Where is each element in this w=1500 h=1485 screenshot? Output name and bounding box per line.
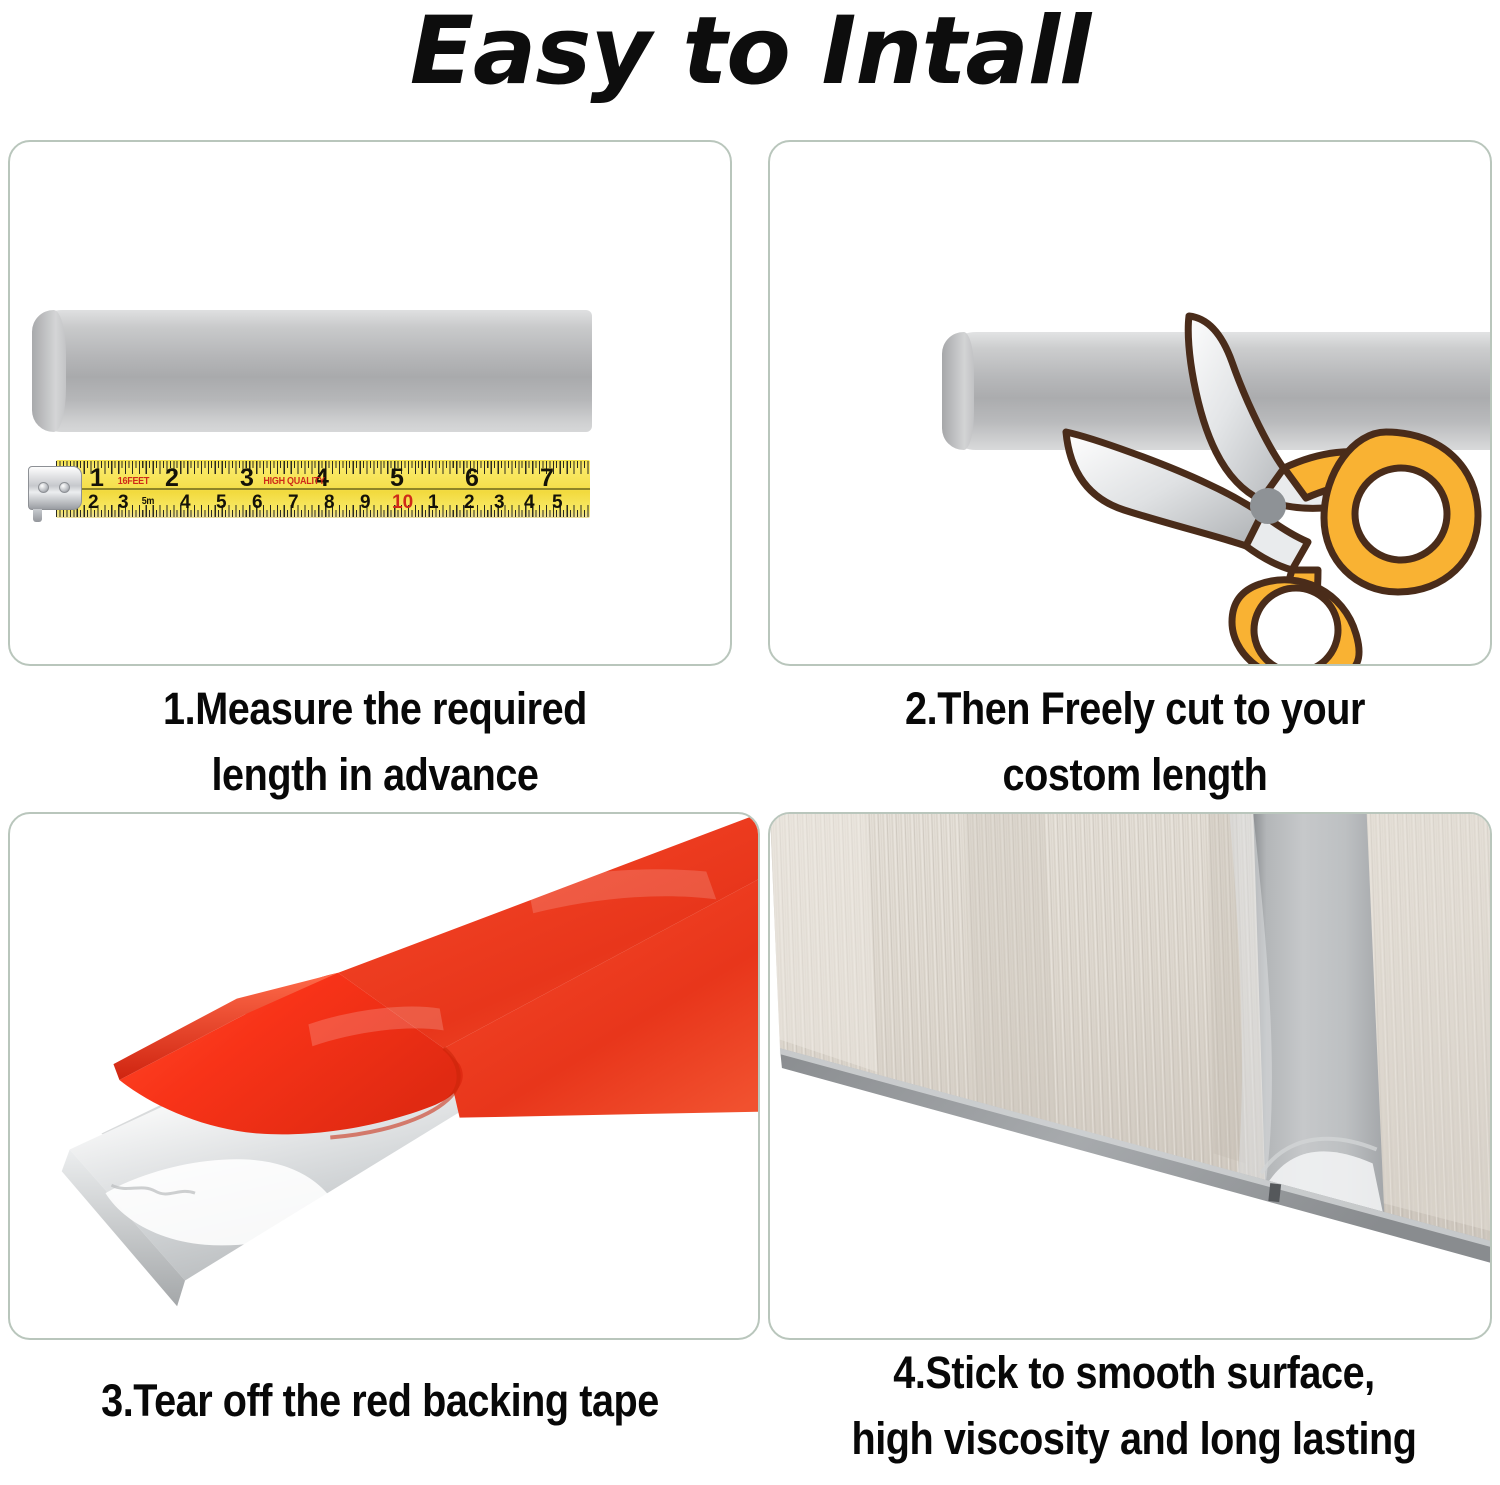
step-panel-peel: [8, 812, 760, 1340]
tape-metric-mark: 2: [88, 493, 99, 512]
tape-metric-mark: 7: [288, 493, 299, 512]
transition-strip: [1229, 814, 1384, 1221]
step-caption-peel: 3.Tear off the red backing tape: [46, 1368, 715, 1434]
step-caption-cut: 2.Then Freely cut to your costom length: [831, 676, 1438, 808]
tape-imperial-mark: 7: [540, 466, 554, 491]
step-caption-stick: 4.Stick to smooth surface, high viscosit…: [812, 1340, 1456, 1472]
step-caption-measure: 1.Measure the required length in advance: [71, 676, 678, 808]
caption-line: costom length: [831, 742, 1438, 808]
tape-imperial-mark: 1: [90, 466, 104, 491]
caption-line: high viscosity and long lasting: [812, 1406, 1456, 1472]
caption-line: 4.Stick to smooth surface,: [812, 1340, 1456, 1406]
tape-metric-mark: 5: [552, 493, 563, 512]
tape-brand-label: 16FEET: [118, 476, 149, 487]
caption-line: 3.Tear off the red backing tape: [46, 1368, 715, 1434]
tape-quality-label: HIGH QUALITY: [263, 476, 324, 487]
tape-imperial-mark: 5: [390, 466, 404, 491]
tape-hook-rivet: [59, 482, 70, 493]
step-panel-stick: [768, 812, 1492, 1340]
tape-metric-label: 5m: [142, 496, 154, 507]
scissors-pivot-screw: [1251, 489, 1285, 523]
scissors-icon: [1056, 292, 1486, 666]
tape-metric-mark-highlight: 10: [392, 493, 413, 512]
tape-fine-ticks-bottom: [56, 510, 590, 517]
step-panel-measure: 1 2 3 4 5 6 7 16FEET HIGH QUALITY 2 3 4 …: [8, 140, 732, 666]
tape-imperial-mark: 3: [240, 466, 254, 491]
caption-line: length in advance: [71, 742, 678, 808]
strip-edge-notch: [1268, 1183, 1281, 1202]
step-panel-cut: [768, 140, 1492, 666]
tape-metric-mark: 6: [252, 493, 263, 512]
tape-metric-mark: 2: [464, 493, 475, 512]
caption-line: 1.Measure the required: [71, 676, 678, 742]
tape-imperial-mark: 6: [465, 466, 479, 491]
tape-measure-illustration: 1 2 3 4 5 6 7 16FEET HIGH QUALITY 2 3 4 …: [28, 460, 590, 518]
red-backing-tape-illustration: [10, 814, 758, 1338]
tape-metric-mark: 3: [494, 493, 505, 512]
pipe-illustration: [32, 310, 592, 432]
tape-metric-mark: 9: [360, 493, 371, 512]
tape-metric-mark: 5: [216, 493, 227, 512]
caption-line: 2.Then Freely cut to your: [831, 676, 1438, 742]
tape-metric-mark: 4: [524, 493, 535, 512]
page-title: Easy to Intall: [0, 0, 1500, 108]
tape-metric-mark: 3: [118, 493, 129, 512]
tape-metric-mark: 4: [180, 493, 191, 512]
tape-metric-mark: 8: [324, 493, 335, 512]
tape-metric-mark: 1: [428, 493, 439, 512]
tape-measure-hook: [28, 466, 82, 510]
tape-imperial-mark: 2: [165, 466, 179, 491]
tape-hook-rivet: [38, 482, 49, 493]
floor-with-transition-strip-illustration: [770, 814, 1490, 1338]
